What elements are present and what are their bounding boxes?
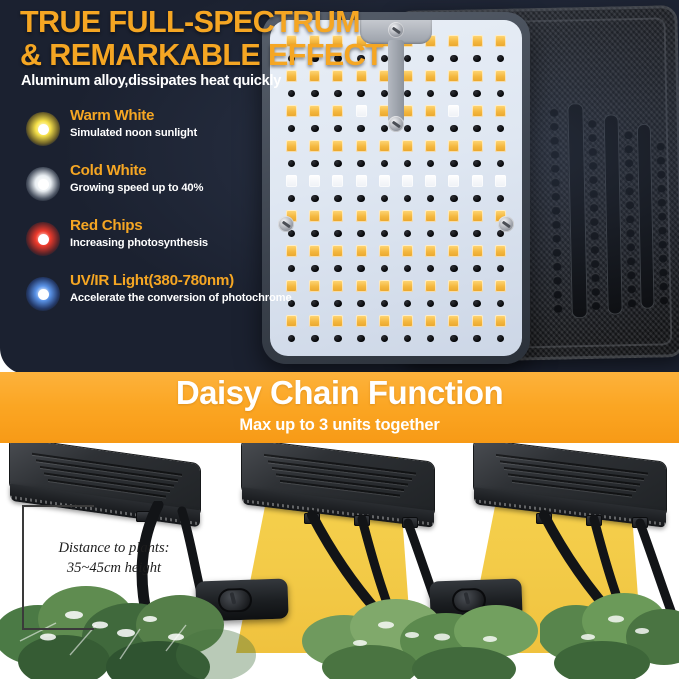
led-chip	[495, 280, 506, 292]
led-dot	[473, 265, 481, 273]
led-dot-row	[270, 225, 522, 242]
led-chip	[448, 35, 459, 47]
led-dot	[334, 265, 342, 273]
led-dot	[427, 195, 435, 203]
led-chip	[472, 105, 483, 117]
led-chip	[332, 245, 343, 257]
led-dot	[381, 300, 389, 308]
led-dot	[357, 230, 365, 238]
led-chip	[356, 105, 367, 117]
led-dot	[427, 125, 435, 133]
monstera-plant-middle	[300, 583, 550, 679]
led-chip	[425, 245, 436, 257]
led-dot	[497, 90, 505, 98]
led-dot	[311, 160, 319, 168]
uv-led-chip	[379, 175, 390, 187]
led-chip	[332, 280, 343, 292]
led-chip	[495, 315, 506, 327]
led-chip	[379, 245, 390, 257]
led-dot	[473, 125, 481, 133]
led-dot	[404, 230, 412, 238]
led-dot	[497, 335, 505, 343]
led-chip	[356, 210, 367, 222]
led-dot	[357, 125, 365, 133]
led-chip-row	[270, 207, 522, 225]
led-dot	[357, 160, 365, 168]
feature-item: Red Chips Increasing photosynthesis	[22, 218, 292, 273]
led-chip	[356, 245, 367, 257]
measure-tick-bottom	[22, 628, 94, 630]
led-chip	[309, 140, 320, 152]
led-dot	[427, 335, 435, 343]
led-chip	[425, 315, 436, 327]
feature-description: Growing speed up to 40%	[70, 182, 203, 194]
led-dot	[497, 195, 505, 203]
led-dot	[450, 300, 458, 308]
led-dot	[427, 265, 435, 273]
product-infographic: TRUE FULL-SPECTRUM & REMARKABLE EFFECT A…	[0, 0, 679, 679]
led-chip	[379, 210, 390, 222]
led-dot	[357, 265, 365, 273]
led-dot	[381, 230, 389, 238]
led-dot-row	[270, 155, 522, 172]
led-chip	[448, 140, 459, 152]
led-dot	[311, 195, 319, 203]
led-dot	[381, 125, 389, 133]
led-dot	[450, 195, 458, 203]
led-dot	[381, 160, 389, 168]
daisy-chain-scene: Distance to plants: 35~45cm height	[0, 443, 679, 679]
led-chip	[425, 280, 436, 292]
led-dot	[450, 335, 458, 343]
led-chip	[448, 105, 459, 117]
led-chip-row	[270, 277, 522, 295]
led-chip	[332, 105, 343, 117]
led-chip	[448, 280, 459, 292]
led-dot	[450, 125, 458, 133]
uv-led-chip	[402, 175, 413, 187]
led-chip-row	[270, 312, 522, 330]
led-dot	[427, 300, 435, 308]
led-chip	[472, 140, 483, 152]
led-dot	[473, 195, 481, 203]
feature-title: UV/IR Light(380-780nm)	[70, 272, 234, 289]
led-chip	[356, 315, 367, 327]
led-dot	[450, 90, 458, 98]
led-chip	[379, 280, 390, 292]
led-dot	[334, 195, 342, 203]
feature-list: Warm White Simulated noon sunlight Cold …	[22, 108, 292, 328]
uv-led-chip	[425, 175, 436, 187]
led-chip	[402, 280, 413, 292]
led-dot	[357, 335, 365, 343]
led-dot	[334, 335, 342, 343]
led-chip	[448, 210, 459, 222]
led-dot	[473, 230, 481, 238]
led-dot-row	[270, 295, 522, 312]
uv-led-chip	[448, 175, 459, 187]
led-dot	[311, 125, 319, 133]
measure-bar	[22, 505, 24, 630]
feature-item: Cold White Growing speed up to 40%	[22, 163, 292, 218]
led-chip-row	[270, 137, 522, 155]
subheadline: Aluminum alloy,dissipates heat quickly	[21, 73, 441, 89]
led-chip	[356, 280, 367, 292]
led-dot	[381, 90, 389, 98]
led-chip-row	[270, 172, 522, 190]
banner-title: Daisy Chain Function	[0, 374, 679, 412]
led-chip	[495, 245, 506, 257]
measure-tick-top	[22, 505, 94, 507]
red-led-dot-icon	[26, 222, 60, 256]
led-chip	[356, 140, 367, 152]
led-dot	[473, 90, 481, 98]
feature-item: UV/IR Light(380-780nm) Accelerate the co…	[22, 273, 292, 328]
led-dot	[311, 230, 319, 238]
led-chip	[402, 210, 413, 222]
led-chip	[425, 140, 436, 152]
banner-subtitle: Max up to 3 units together	[0, 416, 679, 435]
led-dot	[357, 300, 365, 308]
led-chip	[309, 210, 320, 222]
led-dot	[427, 160, 435, 168]
led-chip	[402, 315, 413, 327]
led-dot	[404, 335, 412, 343]
screw	[498, 216, 514, 232]
led-dot-row	[270, 330, 522, 347]
feature-description: Increasing photosynthesis	[70, 237, 208, 249]
led-chip	[495, 105, 506, 117]
led-dot	[288, 335, 296, 343]
led-chip	[402, 245, 413, 257]
led-chip	[472, 315, 483, 327]
led-dot	[404, 195, 412, 203]
led-dot	[497, 55, 505, 63]
led-dot	[334, 160, 342, 168]
headline-line-2: & REMARKABLE EFFECT	[20, 39, 450, 72]
led-dot	[497, 265, 505, 273]
led-dot	[357, 195, 365, 203]
led-dot	[473, 300, 481, 308]
led-chip	[472, 210, 483, 222]
led-chip	[425, 105, 436, 117]
feature-title: Red Chips	[70, 217, 142, 234]
led-dot	[334, 125, 342, 133]
led-dot	[497, 160, 505, 168]
top-feature-panel: TRUE FULL-SPECTRUM & REMARKABLE EFFECT A…	[0, 0, 679, 374]
led-dot	[288, 90, 296, 98]
led-chip	[402, 140, 413, 152]
screw	[388, 116, 404, 132]
led-dot	[497, 300, 505, 308]
led-dot	[311, 300, 319, 308]
led-chip	[448, 245, 459, 257]
led-dot-row	[270, 190, 522, 207]
feature-item: Warm White Simulated noon sunlight	[22, 108, 292, 163]
led-chip	[448, 70, 459, 82]
led-dot	[404, 300, 412, 308]
led-dot	[450, 55, 458, 63]
cold-white-led-dot-icon	[26, 167, 60, 201]
led-chip	[472, 35, 483, 47]
led-dot	[404, 125, 412, 133]
led-dot	[357, 90, 365, 98]
feature-description: Simulated noon sunlight	[70, 127, 197, 139]
led-chip	[472, 70, 483, 82]
led-chip	[495, 35, 506, 47]
led-chip	[425, 210, 436, 222]
led-chip-row	[270, 242, 522, 260]
led-dot	[473, 55, 481, 63]
led-dot	[404, 265, 412, 273]
uv-led-chip	[495, 175, 506, 187]
monstera-plant-right	[540, 573, 679, 679]
led-chip	[332, 315, 343, 327]
led-chip	[495, 70, 506, 82]
led-dot	[311, 90, 319, 98]
led-chip	[332, 140, 343, 152]
page-title: TRUE FULL-SPECTRUM & REMARKABLE EFFECT	[20, 6, 450, 71]
warm-white-led-dot-icon	[26, 112, 60, 146]
led-chip	[379, 315, 390, 327]
feature-title: Cold White	[70, 162, 146, 179]
distance-measurement	[22, 505, 140, 630]
led-dot	[450, 265, 458, 273]
daisy-chain-banner: Daisy Chain Function Max up to 3 units t…	[0, 372, 679, 443]
led-chip	[309, 280, 320, 292]
led-dot	[334, 230, 342, 238]
led-dot	[450, 230, 458, 238]
led-dot	[404, 160, 412, 168]
led-dot	[381, 335, 389, 343]
led-dot	[404, 90, 412, 98]
uv-led-chip	[472, 175, 483, 187]
led-chip	[309, 105, 320, 117]
led-dot	[473, 160, 481, 168]
led-chip	[309, 315, 320, 327]
led-chip	[309, 245, 320, 257]
led-dot	[497, 125, 505, 133]
led-chip	[379, 140, 390, 152]
led-dot	[427, 230, 435, 238]
uv-led-chip	[309, 175, 320, 187]
led-dot	[334, 300, 342, 308]
headline-line-1: TRUE FULL-SPECTRUM	[20, 5, 360, 39]
led-chip	[472, 245, 483, 257]
led-dot	[473, 335, 481, 343]
uv-led-chip	[356, 175, 367, 187]
uv-ir-led-dot-icon	[26, 277, 60, 311]
led-dot	[311, 265, 319, 273]
led-dot	[427, 90, 435, 98]
led-dot	[381, 265, 389, 273]
led-chip	[472, 280, 483, 292]
led-chip	[332, 210, 343, 222]
uv-led-chip	[332, 175, 343, 187]
feature-description: Accelerate the conversion of photochrome	[70, 292, 292, 304]
feature-title: Warm White	[70, 107, 154, 124]
led-dot	[450, 160, 458, 168]
led-chip	[448, 315, 459, 327]
led-dot	[311, 335, 319, 343]
led-dot	[381, 195, 389, 203]
led-dot	[334, 90, 342, 98]
led-dot-row	[270, 260, 522, 277]
led-chip	[495, 140, 506, 152]
